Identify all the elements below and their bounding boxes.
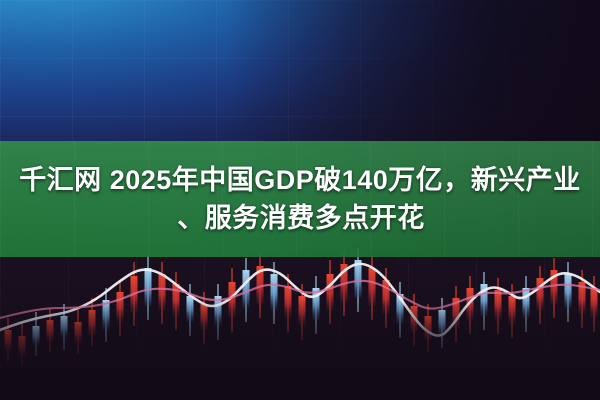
headline-text-block: 千汇网 2025年中国GDP破140万亿，新兴产业 、服务消费多点开花	[0, 141, 600, 257]
bottom-vignette	[0, 300, 600, 400]
headline-line-1: 千汇网 2025年中国GDP破140万亿，新兴产业	[19, 162, 581, 198]
headline-line-2: 、服务消费多点开花	[175, 200, 425, 236]
blue-glow-shadow	[0, 0, 600, 145]
news-thumbnail-image: 千汇网 2025年中国GDP破140万亿，新兴产业 、服务消费多点开花	[0, 0, 600, 400]
